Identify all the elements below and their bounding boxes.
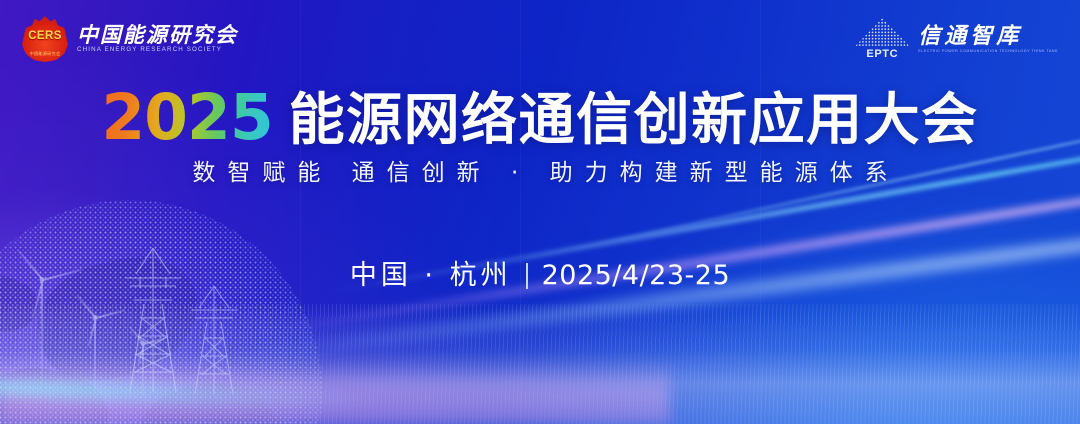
wind-turbine-large-icon [20, 278, 64, 386]
conference-banner: CERS 中国能源研究会 中国能源研究会 CHINA ENERGY RESEAR… [0, 0, 1080, 424]
headline-year: 2025 [101, 86, 272, 149]
cers-logo: CERS 中国能源研究会 中国能源研究会 CHINA ENERGY RESEAR… [22, 16, 238, 62]
subtitle: 数智赋能 通信创新 · 助力构建新型能源体系 [0, 162, 1080, 185]
venue-date-line: 中国 · 杭州 2025/4/23-25 [0, 262, 1080, 289]
venue-date: 2025/4/23-25 [542, 262, 731, 289]
eptc-english-name: ELECTRIC POWER COMMUNICATION TECHNOLOGY … [918, 50, 1058, 54]
eptc-logo: EPTC 信通智库 ELECTRIC POWER COMMUNICATION T… [855, 18, 1058, 60]
eptc-mark-text: EPTC [855, 48, 909, 60]
cers-flame-icon: CERS 中国能源研究会 [22, 16, 68, 62]
cers-emblem-text: CERS [28, 30, 62, 42]
cers-english-name: CHINA ENERGY RESEARCH SOCIETY [77, 47, 238, 53]
venue-separator [526, 263, 528, 289]
transmission-tower-small-icon [185, 282, 243, 394]
cers-chinese-name: 中国能源研究会 [77, 24, 238, 45]
headline: 2025 能源网络通信创新应用大会 [0, 86, 1080, 149]
eptc-pyramid-icon: EPTC [855, 18, 909, 60]
headline-title: 能源网络通信创新应用大会 [289, 93, 979, 149]
cers-emblem-arc-text: 中国能源研究会 [22, 51, 68, 57]
eptc-chinese-name: 信通智库 [918, 25, 1058, 47]
venue-place: 中国 · 杭州 [350, 262, 512, 289]
